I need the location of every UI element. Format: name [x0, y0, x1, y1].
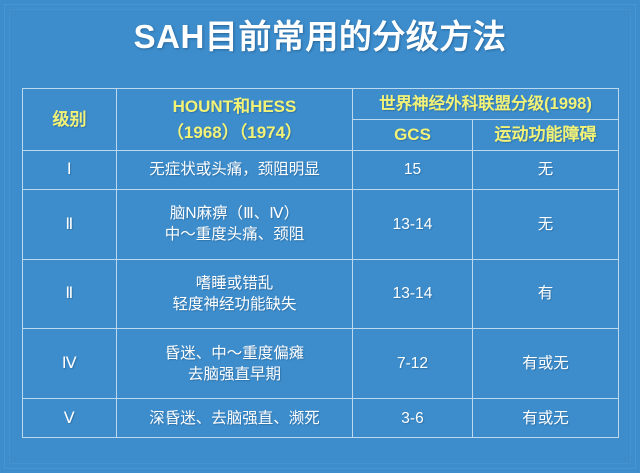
cell-gcs: 13-14 — [353, 189, 473, 259]
sah-grading-table: 级别 HOUNT和HESS （1968）（1974） 世界神经外科联盟分级(19… — [22, 88, 619, 438]
description-line-1: 脑N麻痹（Ⅲ、Ⅳ） — [121, 203, 348, 224]
header-row-top: 级别 HOUNT和HESS （1968）（1974） 世界神经外科联盟分级(19… — [23, 89, 619, 120]
cell-motor: 无 — [473, 151, 619, 190]
cell-grade: Ⅱ — [23, 189, 117, 259]
cell-grade: Ⅳ — [23, 329, 117, 399]
cell-motor: 无 — [473, 189, 619, 259]
table-row: Ⅱ 嗜睡或错乱 轻度神经功能缺失 13-14 有 — [23, 259, 619, 329]
cell-motor: 有或无 — [473, 329, 619, 399]
cell-description: 嗜睡或错乱 轻度神经功能缺失 — [117, 259, 353, 329]
cell-grade: Ⅱ — [23, 259, 117, 329]
cell-grade: Ⅴ — [23, 399, 117, 438]
page-title: SAH目前常用的分级方法 — [0, 14, 640, 60]
description-line-2: 中～重度头痛、颈阻 — [121, 224, 348, 245]
description-line-1: 无症状或头痛，颈阻明显 — [121, 159, 348, 180]
header-wfns: 世界神经外科联盟分级(1998) — [353, 89, 619, 120]
cell-description: 深昏迷、去脑强直、濒死 — [117, 399, 353, 438]
cell-gcs: 15 — [353, 151, 473, 190]
cell-motor: 有或无 — [473, 399, 619, 438]
description-line-1: 嗜睡或错乱 — [121, 273, 348, 294]
table-header: 级别 HOUNT和HESS （1968）（1974） 世界神经外科联盟分级(19… — [23, 89, 619, 151]
cell-grade: Ⅰ — [23, 151, 117, 190]
header-motor: 运动功能障碍 — [473, 120, 619, 151]
cell-description: 昏迷、中～重度偏瘫 去脑强直早期 — [117, 329, 353, 399]
header-hunt-hess-line2: （1968）（1974） — [121, 120, 348, 146]
cell-gcs: 3-6 — [353, 399, 473, 438]
header-hunt-hess-line1: HOUNT和HESS — [121, 94, 348, 120]
header-hunt-hess: HOUNT和HESS （1968）（1974） — [117, 89, 353, 151]
table-row: Ⅱ 脑N麻痹（Ⅲ、Ⅳ） 中～重度头痛、颈阻 13-14 无 — [23, 189, 619, 259]
cell-gcs: 7-12 — [353, 329, 473, 399]
table-row: Ⅰ 无症状或头痛，颈阻明显 15 无 — [23, 151, 619, 190]
table-row: Ⅳ 昏迷、中～重度偏瘫 去脑强直早期 7-12 有或无 — [23, 329, 619, 399]
description-line-1: 深昏迷、去脑强直、濒死 — [121, 408, 348, 429]
header-grade: 级别 — [23, 89, 117, 151]
cell-motor: 有 — [473, 259, 619, 329]
cell-description: 脑N麻痹（Ⅲ、Ⅳ） 中～重度头痛、颈阻 — [117, 189, 353, 259]
table-body: Ⅰ 无症状或头痛，颈阻明显 15 无 Ⅱ 脑N麻痹（Ⅲ、Ⅳ） 中～重度头痛、颈阻… — [23, 151, 619, 438]
grading-table-container: 级别 HOUNT和HESS （1968）（1974） 世界神经外科联盟分级(19… — [22, 88, 618, 438]
slide-canvas: SAH目前常用的分级方法 级别 HOUNT和HESS （1968）（1974） … — [0, 0, 640, 473]
header-gcs: GCS — [353, 120, 473, 151]
description-line-2: 轻度神经功能缺失 — [121, 294, 348, 315]
cell-gcs: 13-14 — [353, 259, 473, 329]
cell-description: 无症状或头痛，颈阻明显 — [117, 151, 353, 190]
description-line-1: 昏迷、中～重度偏瘫 — [121, 343, 348, 364]
table-row: Ⅴ 深昏迷、去脑强直、濒死 3-6 有或无 — [23, 399, 619, 438]
description-line-2: 去脑强直早期 — [121, 364, 348, 385]
